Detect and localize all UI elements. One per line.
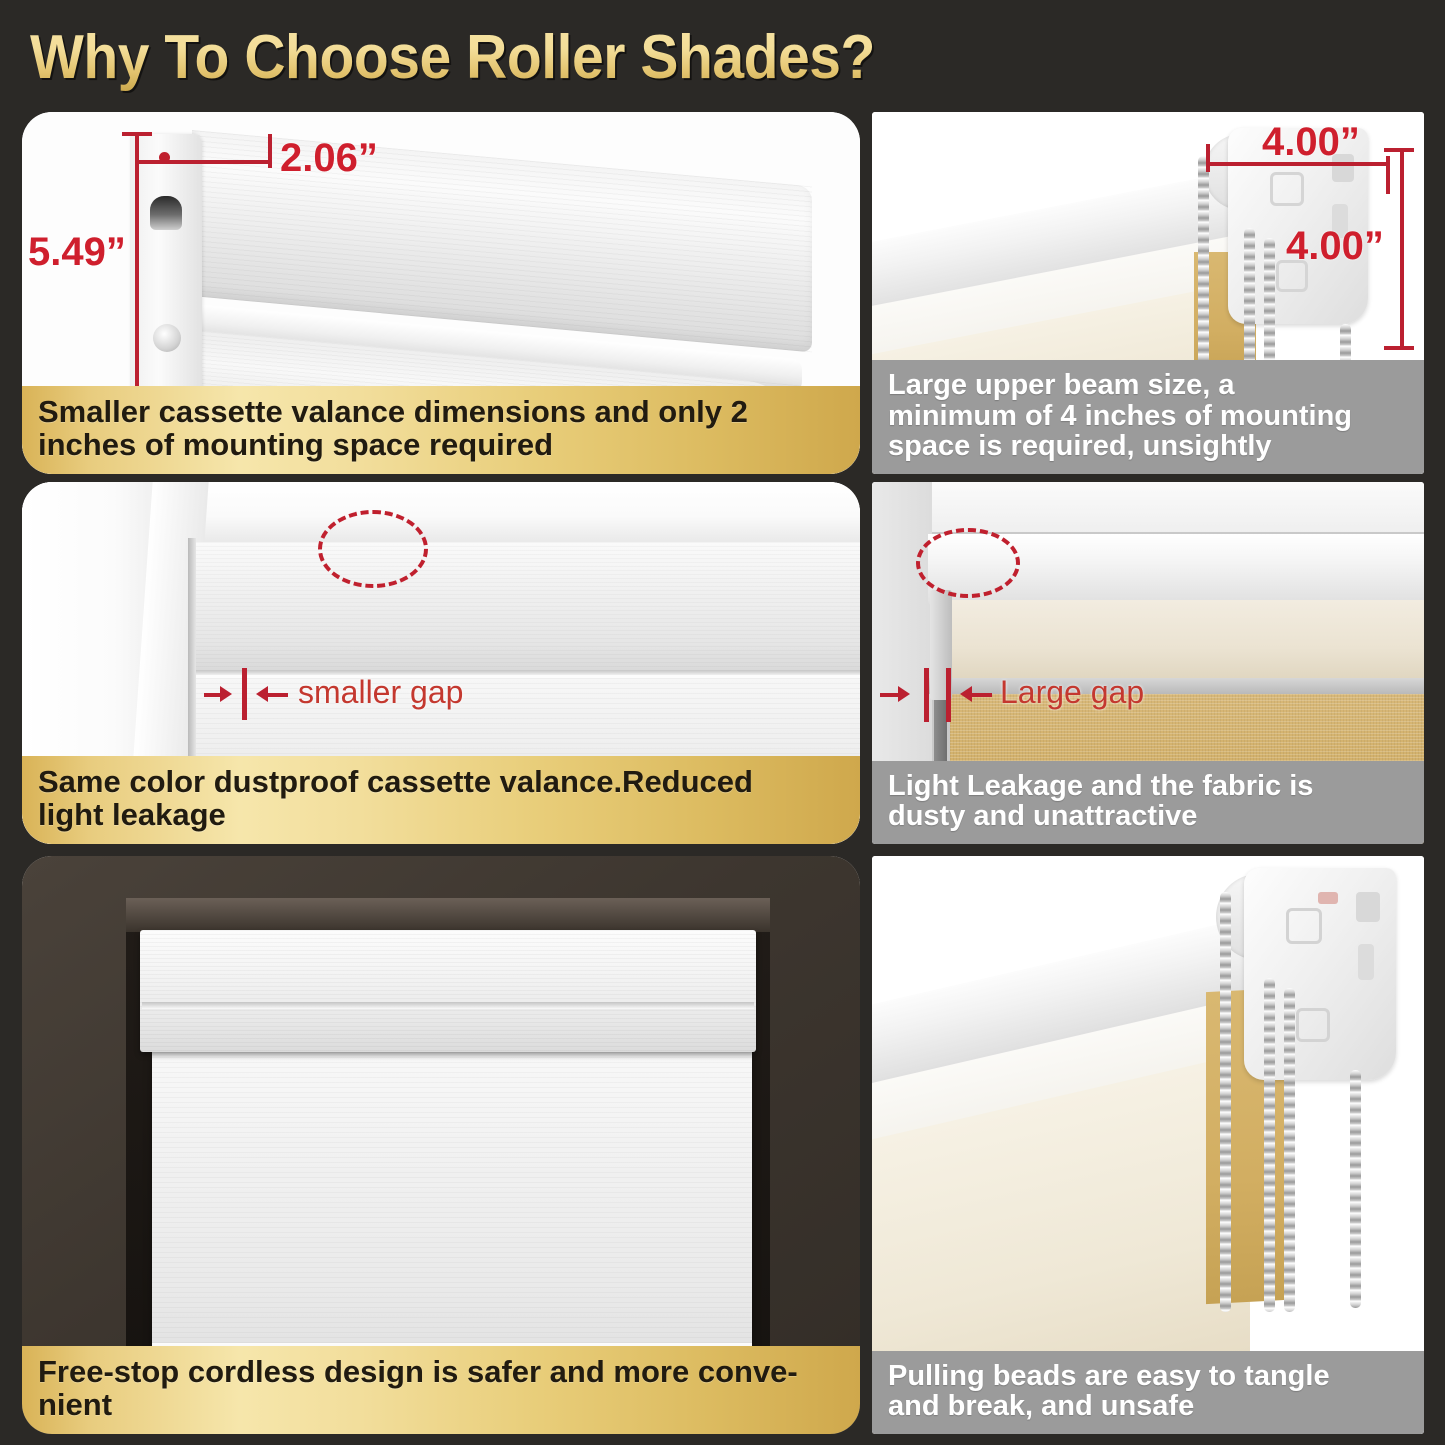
gap-arrow-right-shaft [880, 693, 902, 697]
panel-large-upper-beam: 4.00” 4.00” Large upper beam size, a min… [872, 112, 1424, 474]
caption-line-2: nient [38, 1389, 844, 1422]
comparison-grid: 2.06” 5.49” Smaller cassette valance dim… [0, 108, 1445, 1445]
gap-marker-line [242, 668, 247, 720]
cassette-valance [140, 930, 756, 1052]
panel-2-caption: Large upper beam size, a minimum of 4 in… [872, 360, 1424, 474]
cream-valance-band [932, 600, 1424, 680]
beam-width-tick-right [1386, 156, 1390, 194]
caption-line-1: Smaller cassette valance dimensions and … [38, 396, 844, 429]
caption-line-2: and break, and unsafe [888, 1391, 1408, 1422]
panel-5-caption: Free-stop cordless design is safer and m… [22, 1346, 860, 1434]
caption-line-2: minimum of 4 inches of mounting [888, 401, 1408, 432]
panel-light-leakage: Large gap Light Leakage and the fabric i… [872, 482, 1424, 844]
beam-height-dimension-line [1400, 150, 1404, 350]
caption-line-1: Same color dustproof cassette valance.Re… [38, 766, 844, 799]
header-bar: Why To Choose Roller Shades? [0, 0, 1445, 108]
ceiling-band [872, 482, 1424, 532]
height-dimension-tick-top [122, 132, 152, 136]
bracket-screw-icon [153, 324, 181, 352]
height-dimension-line [135, 134, 139, 412]
panel-smaller-cassette: 2.06” 5.49” Smaller cassette valance dim… [22, 112, 860, 474]
gap-arrow-left-shaft [970, 693, 992, 697]
beam-width-label: 4.00” [1262, 120, 1360, 165]
beam-height-label: 4.00” [1286, 224, 1384, 269]
panel-dustproof-valance: smaller gap Same color dustproof cassett… [22, 482, 860, 844]
valance-groove [142, 1002, 754, 1009]
cassette-end-bracket [130, 134, 202, 404]
caption-line-2: inches of mounting space required [38, 429, 844, 462]
caption-line-1: Large upper beam size, a [888, 370, 1408, 401]
beam-height-tick-top [1384, 148, 1414, 152]
bracket-pin-icon [1318, 892, 1338, 904]
panel-6-caption: Pulling beads are easy to tangle and bre… [872, 1351, 1424, 1434]
panel-3-caption: Same color dustproof cassette valance.Re… [22, 756, 860, 844]
gap-arrow-left-shaft [266, 693, 288, 697]
highlight-circle-icon [318, 510, 428, 588]
caption-line-2: dusty and unattractive [888, 801, 1408, 832]
highlight-circle-icon [916, 528, 1020, 598]
bead-chain-tail [1350, 1070, 1361, 1308]
valance-top-seam [194, 670, 860, 675]
panel-pulling-beads: Pulling beads are easy to tangle and bre… [872, 856, 1424, 1434]
bracket-emboss-upper-icon [1286, 908, 1322, 944]
gap-label: Large gap [1000, 674, 1144, 711]
panel-cordless-design: Free-stop cordless design is safer and m… [22, 856, 860, 1434]
bracket-slot-icon [150, 196, 182, 230]
gap-marker-line-b [946, 668, 951, 722]
caption-line-1: Free-stop cordless design is safer and m… [38, 1356, 844, 1389]
beam-width-tick-left [1206, 144, 1210, 172]
gap-arrow-right-shaft [204, 693, 226, 697]
panel-1-caption: Smaller cassette valance dimensions and … [22, 386, 860, 474]
bracket-emboss-lower-icon [1296, 1008, 1330, 1042]
bracket-emboss-upper-icon [1270, 172, 1304, 206]
bead-chain-back [1284, 988, 1295, 1312]
bead-chain-front [1198, 156, 1209, 376]
caption-line-1: Light Leakage and the fabric is [888, 771, 1408, 802]
roller-shade-fabric [152, 1052, 752, 1360]
bead-chain-mid [1264, 978, 1275, 1312]
beam-height-tick-bottom [1384, 346, 1414, 350]
width-dimension-line [137, 160, 271, 164]
cassette-valance [190, 542, 860, 670]
panel-4-caption: Light Leakage and the fabric is dusty an… [872, 761, 1424, 844]
page-title: Why To Choose Roller Shades? [30, 22, 875, 93]
width-dimension-tick-right [268, 134, 272, 168]
height-dimension-label: 5.49” [28, 230, 126, 275]
gap-label: smaller gap [298, 674, 463, 711]
gap-marker-line-a [924, 668, 929, 722]
window-recess-top [126, 898, 770, 932]
bracket-slot-lower-icon [1358, 944, 1374, 980]
bead-chain-mid [1244, 228, 1255, 378]
caption-line-2: light leakage [38, 799, 844, 832]
bead-chain-front [1220, 892, 1231, 1312]
product-photo-bead-chain [872, 856, 1424, 1434]
caption-line-1: Pulling beads are easy to tangle [888, 1361, 1408, 1392]
bracket-slot-upper-icon [1356, 892, 1380, 922]
bead-chain-back [1264, 238, 1275, 378]
width-dimension-label: 2.06” [280, 136, 378, 181]
caption-line-3: space is required, unsightly [888, 431, 1408, 462]
